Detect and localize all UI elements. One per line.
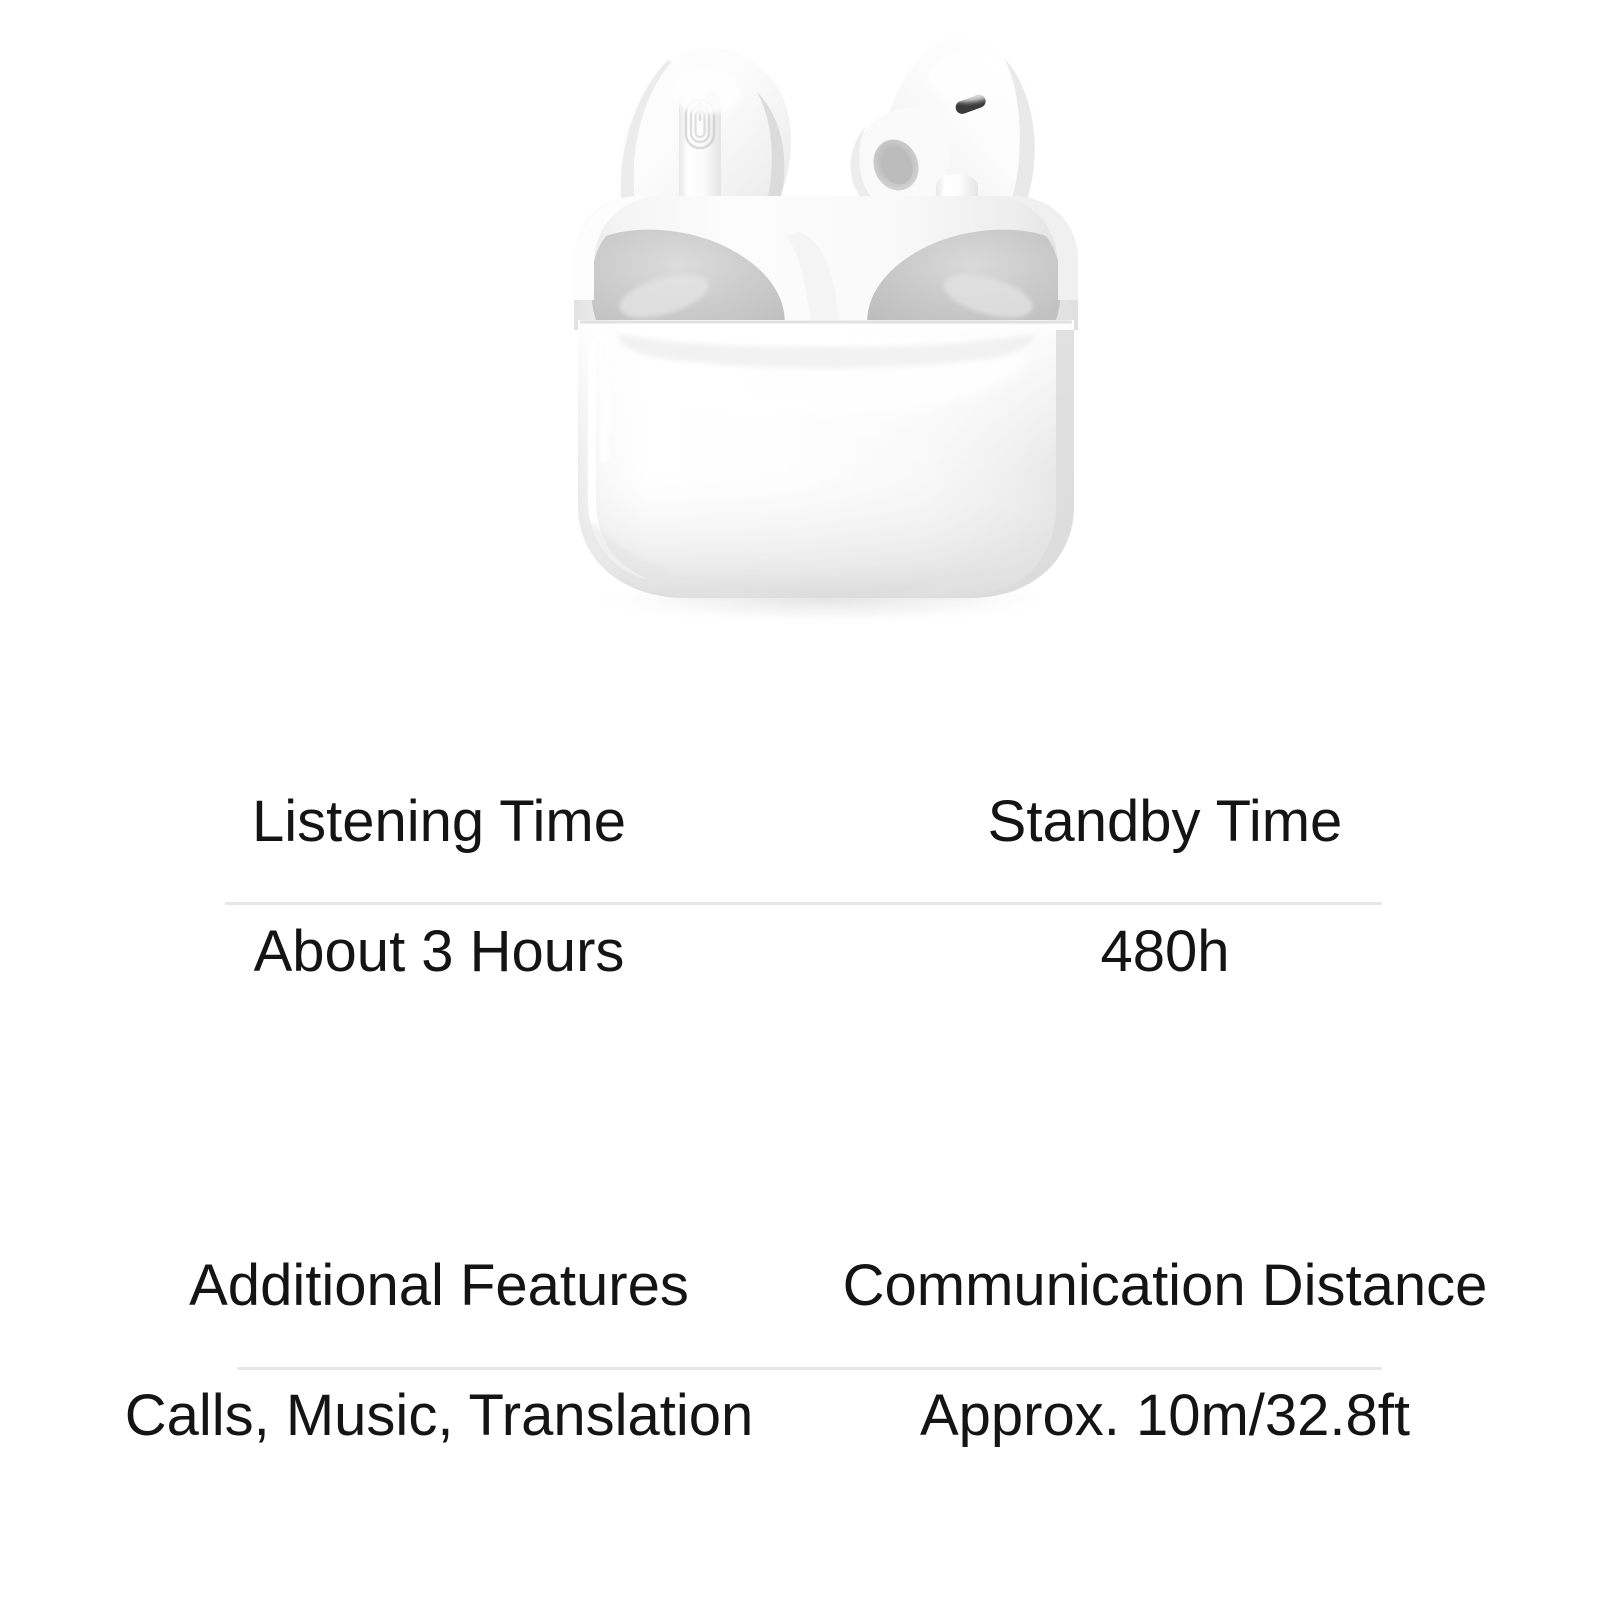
earbuds-product-illustration xyxy=(0,0,1601,700)
spec-value-listening-time: About 3 Hours xyxy=(39,900,839,1004)
spec-value-row: Calls, Music, Translation Approx. 10m/32… xyxy=(0,1364,1601,1468)
spec-value-additional-features: Calls, Music, Translation xyxy=(39,1364,839,1468)
spec-header-standby-time: Standby Time xyxy=(765,770,1565,874)
spec-value-communication-distance: Approx. 10m/32.8ft xyxy=(765,1364,1565,1468)
charging-case xyxy=(574,196,1078,598)
product-image xyxy=(0,0,1601,700)
left-earbud-gloss xyxy=(672,70,740,114)
spec-header-additional-features: Additional Features xyxy=(39,1234,839,1338)
spec-block-features: Additional Features Communication Distan… xyxy=(0,1234,1601,1468)
spec-header-listening-time: Listening Time xyxy=(39,770,839,874)
case-left-specular xyxy=(600,336,609,462)
spec-value-standby-time: 480h xyxy=(765,900,1565,1004)
spec-header-row: Additional Features Communication Distan… xyxy=(0,1234,1601,1338)
spec-value-row: About 3 Hours 480h xyxy=(0,900,1601,1004)
spec-header-communication-distance: Communication Distance xyxy=(765,1234,1565,1338)
spec-header-row: Listening Time Standby Time xyxy=(0,770,1601,874)
right-earbud-gloss xyxy=(929,54,1005,102)
spec-block-battery: Listening Time Standby Time About 3 Hour… xyxy=(0,770,1601,1004)
